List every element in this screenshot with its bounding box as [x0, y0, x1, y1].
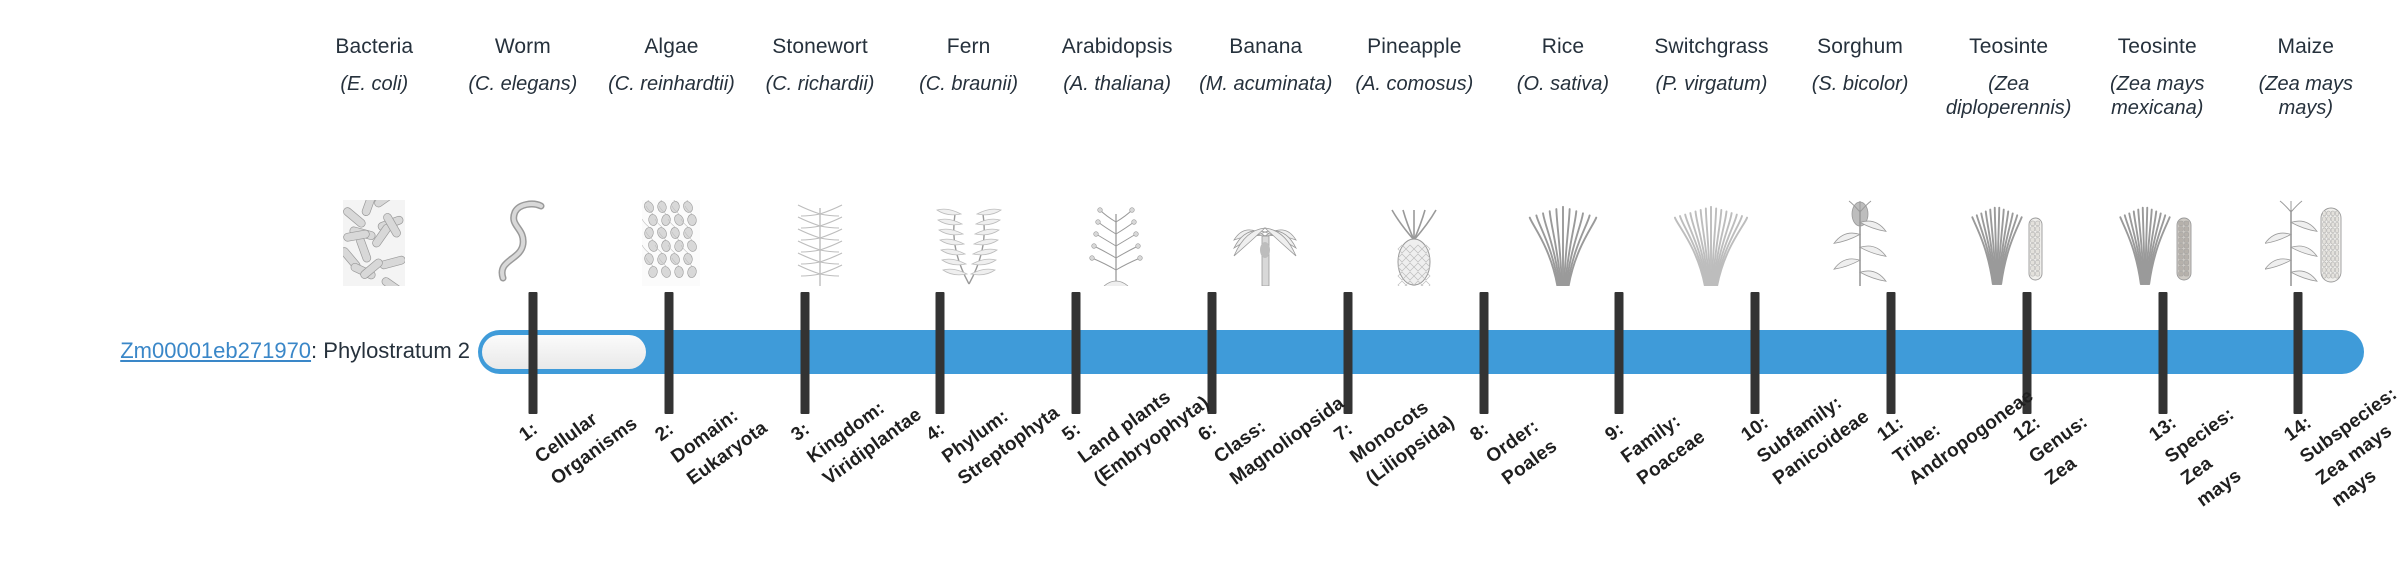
- arabidopsis-icon: [1086, 200, 1148, 286]
- species-common-name: Fern: [896, 34, 1041, 60]
- phylostratum-figure: Bacteria(E. coli)Worm(C. elegans)Algae(C…: [0, 0, 2400, 580]
- organism-cell-11: [1786, 166, 1935, 286]
- species-latin-name: (C. richardii): [748, 72, 893, 96]
- species-column-14: Maize(Zea mays mays): [2232, 34, 2381, 120]
- species-latin-name: (O. sativa): [1491, 72, 1636, 96]
- organism-cell-4: [746, 166, 895, 286]
- organism-illustration-row: [300, 166, 2380, 286]
- organism-cell-8: [1340, 166, 1489, 286]
- organism-cell-12: [1934, 166, 2083, 286]
- species-latin-name: (Zea mays mays): [2234, 72, 2379, 120]
- species-latin-name: (C. braunii): [896, 72, 1041, 96]
- stratum-tick-1[interactable]: [529, 292, 538, 414]
- species-column-4: Stonewort(C. richardii): [746, 34, 895, 96]
- species-latin-name: (E. coli): [302, 72, 447, 96]
- gene-id-link[interactable]: Zm00001eb271970: [120, 338, 311, 363]
- species-column-6: Arabidopsis(A. thaliana): [1043, 34, 1192, 96]
- species-column-3: Algae(C. reinhardtii): [597, 34, 746, 96]
- species-column-13: Teosinte(Zea mays mexicana): [2083, 34, 2232, 120]
- species-common-name: Switchgrass: [1639, 34, 1784, 60]
- species-header-row: Bacteria(E. coli)Worm(C. elegans)Algae(C…: [300, 34, 2380, 164]
- organism-cell-5: [894, 166, 1043, 286]
- species-latin-name: (Zea mays mexicana): [2085, 72, 2230, 120]
- species-common-name: Maize: [2234, 34, 2379, 60]
- species-column-12: Teosinte(Zea diploperennis): [1934, 34, 2083, 120]
- organism-cell-6: [1043, 166, 1192, 286]
- switchgrass-icon: [1673, 200, 1749, 286]
- species-latin-name: (M. acuminata): [1193, 72, 1338, 96]
- teosinte-diploperennis-icon: [1971, 200, 2047, 286]
- species-common-name: Sorghum: [1788, 34, 1933, 60]
- species-column-8: Pineapple(A. comosus): [1340, 34, 1489, 96]
- organism-cell-3: [597, 166, 746, 286]
- species-latin-name: (S. bicolor): [1788, 72, 1933, 96]
- species-column-2: Worm(C. elegans): [449, 34, 598, 96]
- teosinte-mexicana-icon: [2119, 200, 2195, 286]
- organism-cell-14: [2232, 166, 2381, 286]
- species-column-7: Banana(M. acuminata): [1191, 34, 1340, 96]
- species-common-name: Algae: [599, 34, 744, 60]
- species-column-5: Fern(C. braunii): [894, 34, 1043, 96]
- species-latin-name: (P. virgatum): [1639, 72, 1784, 96]
- species-column-11: Sorghum(S. bicolor): [1786, 34, 1935, 96]
- worm-icon: [495, 200, 551, 286]
- species-latin-name: (C. reinhardtii): [599, 72, 744, 96]
- organism-cell-9: [1489, 166, 1638, 286]
- stonewort-icon: [790, 200, 850, 286]
- pineapple-icon: [1384, 200, 1444, 286]
- organism-cell-2: [449, 166, 598, 286]
- bacteria-icon: [343, 200, 405, 286]
- algae-icon: [642, 200, 700, 286]
- fern-icon: [933, 200, 1005, 286]
- species-common-name: Teosinte: [1936, 34, 2081, 60]
- phylostratum-text: : Phylostratum 2: [311, 338, 470, 363]
- gene-row-label: Zm00001eb271970: Phylostratum 2: [0, 338, 470, 364]
- species-column-10: Switchgrass(P. virgatum): [1637, 34, 1786, 96]
- species-common-name: Arabidopsis: [1045, 34, 1190, 60]
- species-common-name: Stonewort: [748, 34, 893, 60]
- species-column-9: Rice(O. sativa): [1489, 34, 1638, 96]
- species-common-name: Rice: [1491, 34, 1636, 60]
- species-latin-name: (A. thaliana): [1045, 72, 1190, 96]
- organism-cell-10: [1637, 166, 1786, 286]
- species-latin-name: (A. comosus): [1342, 72, 1487, 96]
- species-latin-name: (C. elegans): [451, 72, 596, 96]
- species-common-name: Worm: [451, 34, 596, 60]
- organism-cell-1: [300, 166, 449, 286]
- species-common-name: Teosinte: [2085, 34, 2230, 60]
- species-common-name: Pineapple: [1342, 34, 1487, 60]
- species-common-name: Banana: [1193, 34, 1338, 60]
- organism-cell-7: [1191, 166, 1340, 286]
- sorghum-icon: [1826, 200, 1894, 286]
- maize-icon: [2265, 200, 2347, 286]
- organism-cell-13: [2083, 166, 2232, 286]
- species-column-1: Bacteria(E. coli): [300, 34, 449, 96]
- species-common-name: Bacteria: [302, 34, 447, 60]
- species-latin-name: (Zea diploperennis): [1936, 72, 2081, 120]
